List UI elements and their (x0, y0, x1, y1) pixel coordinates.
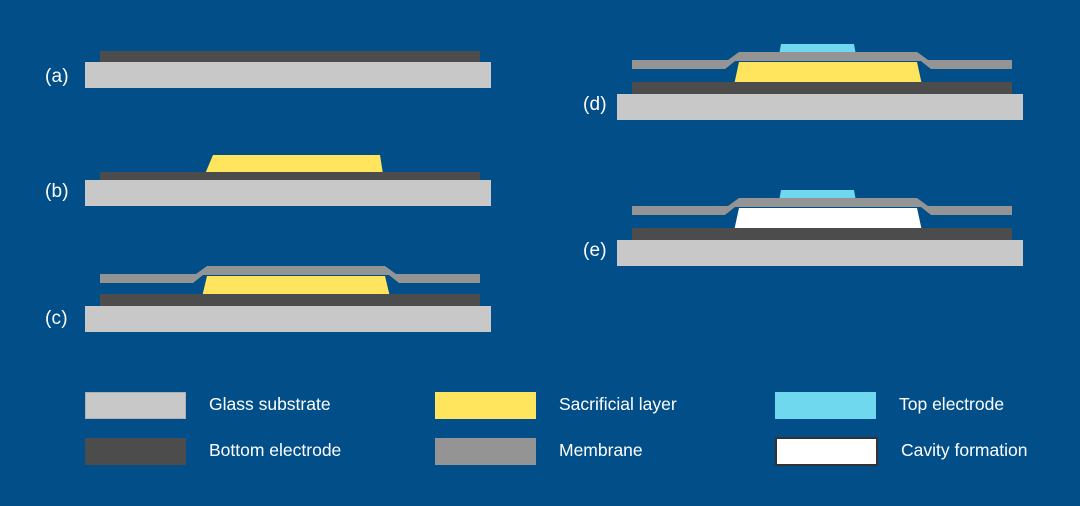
legend-label-top-electrode: Top electrode (899, 396, 1004, 414)
legend-label-cavity-formation: Cavity formation (901, 442, 1027, 460)
legend-label-glass-substrate: Glass substrate (209, 396, 331, 414)
panel-label-e: (e) (583, 241, 607, 260)
panel-a-glass-substrate (85, 62, 491, 88)
panel-d-stack (617, 44, 1023, 120)
panel-label-a: (a) (45, 67, 69, 86)
panel-c-stack (85, 266, 491, 332)
panel-c-sacrificial-layer (202, 276, 390, 297)
legend-item-cavity-formation: Cavity formation (775, 438, 1027, 464)
legend-label-sacrificial-layer: Sacrificial layer (559, 396, 677, 414)
legend-swatch-bottom-electrode (85, 438, 186, 465)
panel-label-c: (c) (45, 309, 68, 328)
legend: Glass substrate Bottom electrode Sacrifi… (0, 378, 1080, 478)
panel-label-b: (b) (45, 182, 69, 201)
panel-d-bottom-electrode (632, 82, 1012, 94)
panel-a-stack (85, 51, 491, 88)
legend-item-membrane: Membrane (435, 438, 643, 464)
process-flow-figure: (a) (b) (c) (d) (e) Glass substrate Bott… (0, 0, 1080, 506)
legend-item-glass-substrate: Glass substrate (85, 392, 331, 418)
legend-item-sacrificial-layer: Sacrificial layer (435, 392, 677, 418)
legend-swatch-membrane (435, 438, 536, 465)
panel-b-glass-substrate (85, 180, 491, 206)
panel-e-bottom-electrode (632, 228, 1012, 240)
panel-c-bottom-electrode (100, 294, 480, 306)
panel-b-sacrificial-layer (205, 155, 383, 174)
panel-label-d: (d) (583, 95, 607, 114)
legend-swatch-top-electrode (775, 392, 876, 419)
legend-item-bottom-electrode: Bottom electrode (85, 438, 341, 464)
legend-swatch-glass-substrate (85, 392, 186, 419)
panel-e-cavity-formation (734, 208, 922, 231)
panel-d-glass-substrate (617, 94, 1023, 120)
panel-c-glass-substrate (85, 306, 491, 332)
legend-label-membrane: Membrane (559, 442, 643, 460)
panel-e-glass-substrate (617, 240, 1023, 266)
legend-label-bottom-electrode: Bottom electrode (209, 442, 341, 460)
panel-e-stack (617, 190, 1023, 266)
legend-swatch-cavity-formation (775, 437, 878, 466)
panel-a-bottom-electrode (100, 51, 480, 62)
legend-item-top-electrode: Top electrode (775, 392, 1004, 418)
panel-b-stack (85, 155, 491, 206)
panel-d-sacrificial-layer (734, 62, 922, 85)
legend-swatch-sacrificial-layer (435, 392, 536, 419)
